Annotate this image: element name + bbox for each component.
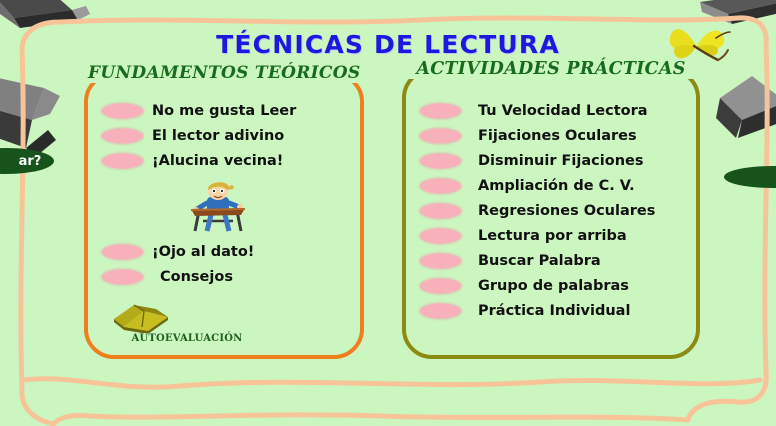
menu-item-label: Grupo de palabras (478, 278, 629, 294)
menu-item-label: Regresiones Oculares (478, 203, 655, 219)
illustration-slot (88, 173, 360, 239)
bullet-oval-icon (420, 128, 461, 143)
bullet-oval-icon (420, 153, 461, 168)
menu-item-ojo-al-dato[interactable]: ¡Ojo al dato! (88, 239, 360, 264)
menu-item-label: Fijaciones Oculares (478, 128, 637, 144)
menu-item-no-me-gusta-leer[interactable]: No me gusta Leer (88, 98, 360, 123)
open-book-icon (112, 297, 174, 333)
menu-list-practicas: Tu Velocidad Lectora Fijaciones Oculares… (406, 98, 696, 323)
menu-item-practica-individual[interactable]: Práctica Individual (406, 298, 696, 323)
menu-item-label: Consejos (160, 269, 233, 285)
autoevaluacion-button[interactable]: AUTOEVALUACIÓN (102, 297, 282, 353)
menu-item-fijaciones-oculares[interactable]: Fijaciones Oculares (406, 123, 696, 148)
bullet-oval-icon (102, 153, 143, 168)
pencil-clipart-right (716, 76, 776, 166)
panel-heading-practicas: ACTIVIDADES PRÁCTICAS (406, 59, 696, 79)
menu-item-disminuir-fijaciones[interactable]: Disminuir Fijaciones (406, 148, 696, 173)
student-at-desk-icon (183, 181, 253, 233)
slide-canvas: TÉCNICAS DE LECTURA FUNDAMENTOS TEÓRICOS… (0, 0, 776, 426)
menu-item-label: ¡Alucina vecina! (152, 153, 283, 169)
menu-list-teoricos: No me gusta Leer El lector adivino ¡Aluc… (88, 98, 360, 289)
edge-tab-left-label: ar? (19, 154, 42, 169)
bullet-oval-icon (420, 303, 461, 318)
menu-item-regresiones-oculares[interactable]: Regresiones Oculares (406, 198, 696, 223)
bullet-oval-icon (420, 228, 461, 243)
menu-item-label: Ampliación de C. V. (478, 178, 635, 194)
bullet-oval-icon (420, 203, 461, 218)
menu-item-grupo-de-palabras[interactable]: Grupo de palabras (406, 273, 696, 298)
bullet-oval-icon (102, 244, 143, 259)
panel-heading-teoricos: FUNDAMENTOS TEÓRICOS (88, 63, 360, 83)
menu-item-label: Tu Velocidad Lectora (478, 103, 648, 119)
menu-item-label: Buscar Palabra (478, 253, 601, 269)
panel-fundamentos-teoricos: FUNDAMENTOS TEÓRICOS No me gusta Leer El… (84, 72, 364, 359)
menu-item-buscar-palabra[interactable]: Buscar Palabra (406, 248, 696, 273)
menu-item-alucina-vecina[interactable]: ¡Alucina vecina! (88, 148, 360, 173)
menu-item-label: Práctica Individual (478, 303, 630, 319)
menu-item-label: El lector adivino (152, 128, 284, 144)
bullet-oval-icon (102, 103, 143, 118)
menu-item-label: ¡Ojo al dato! (152, 244, 254, 260)
menu-item-label: No me gusta Leer (152, 103, 296, 119)
menu-item-tu-velocidad-lectora[interactable]: Tu Velocidad Lectora (406, 98, 696, 123)
panel-actividades-practicas: ACTIVIDADES PRÁCTICAS Tu Velocidad Lecto… (402, 68, 700, 359)
bullet-oval-icon (102, 269, 143, 284)
menu-item-ampliacion-de-cv[interactable]: Ampliación de C. V. (406, 173, 696, 198)
bullet-oval-icon (420, 253, 461, 268)
bullet-oval-icon (420, 278, 461, 293)
bullet-oval-icon (420, 178, 461, 193)
bullet-oval-icon (420, 103, 461, 118)
menu-item-el-lector-adivino[interactable]: El lector adivino (88, 123, 360, 148)
bullet-oval-icon (102, 128, 143, 143)
menu-item-label: Disminuir Fijaciones (478, 153, 643, 169)
autoevaluacion-label: AUTOEVALUACIÓN (102, 333, 272, 344)
edge-tab-right[interactable] (724, 166, 776, 188)
menu-item-lectura-por-arriba[interactable]: Lectura por arriba (406, 223, 696, 248)
menu-item-consejos[interactable]: Consejos (88, 264, 360, 289)
menu-item-label: Lectura por arriba (478, 228, 627, 244)
page-title: TÉCNICAS DE LECTURA (0, 30, 776, 59)
